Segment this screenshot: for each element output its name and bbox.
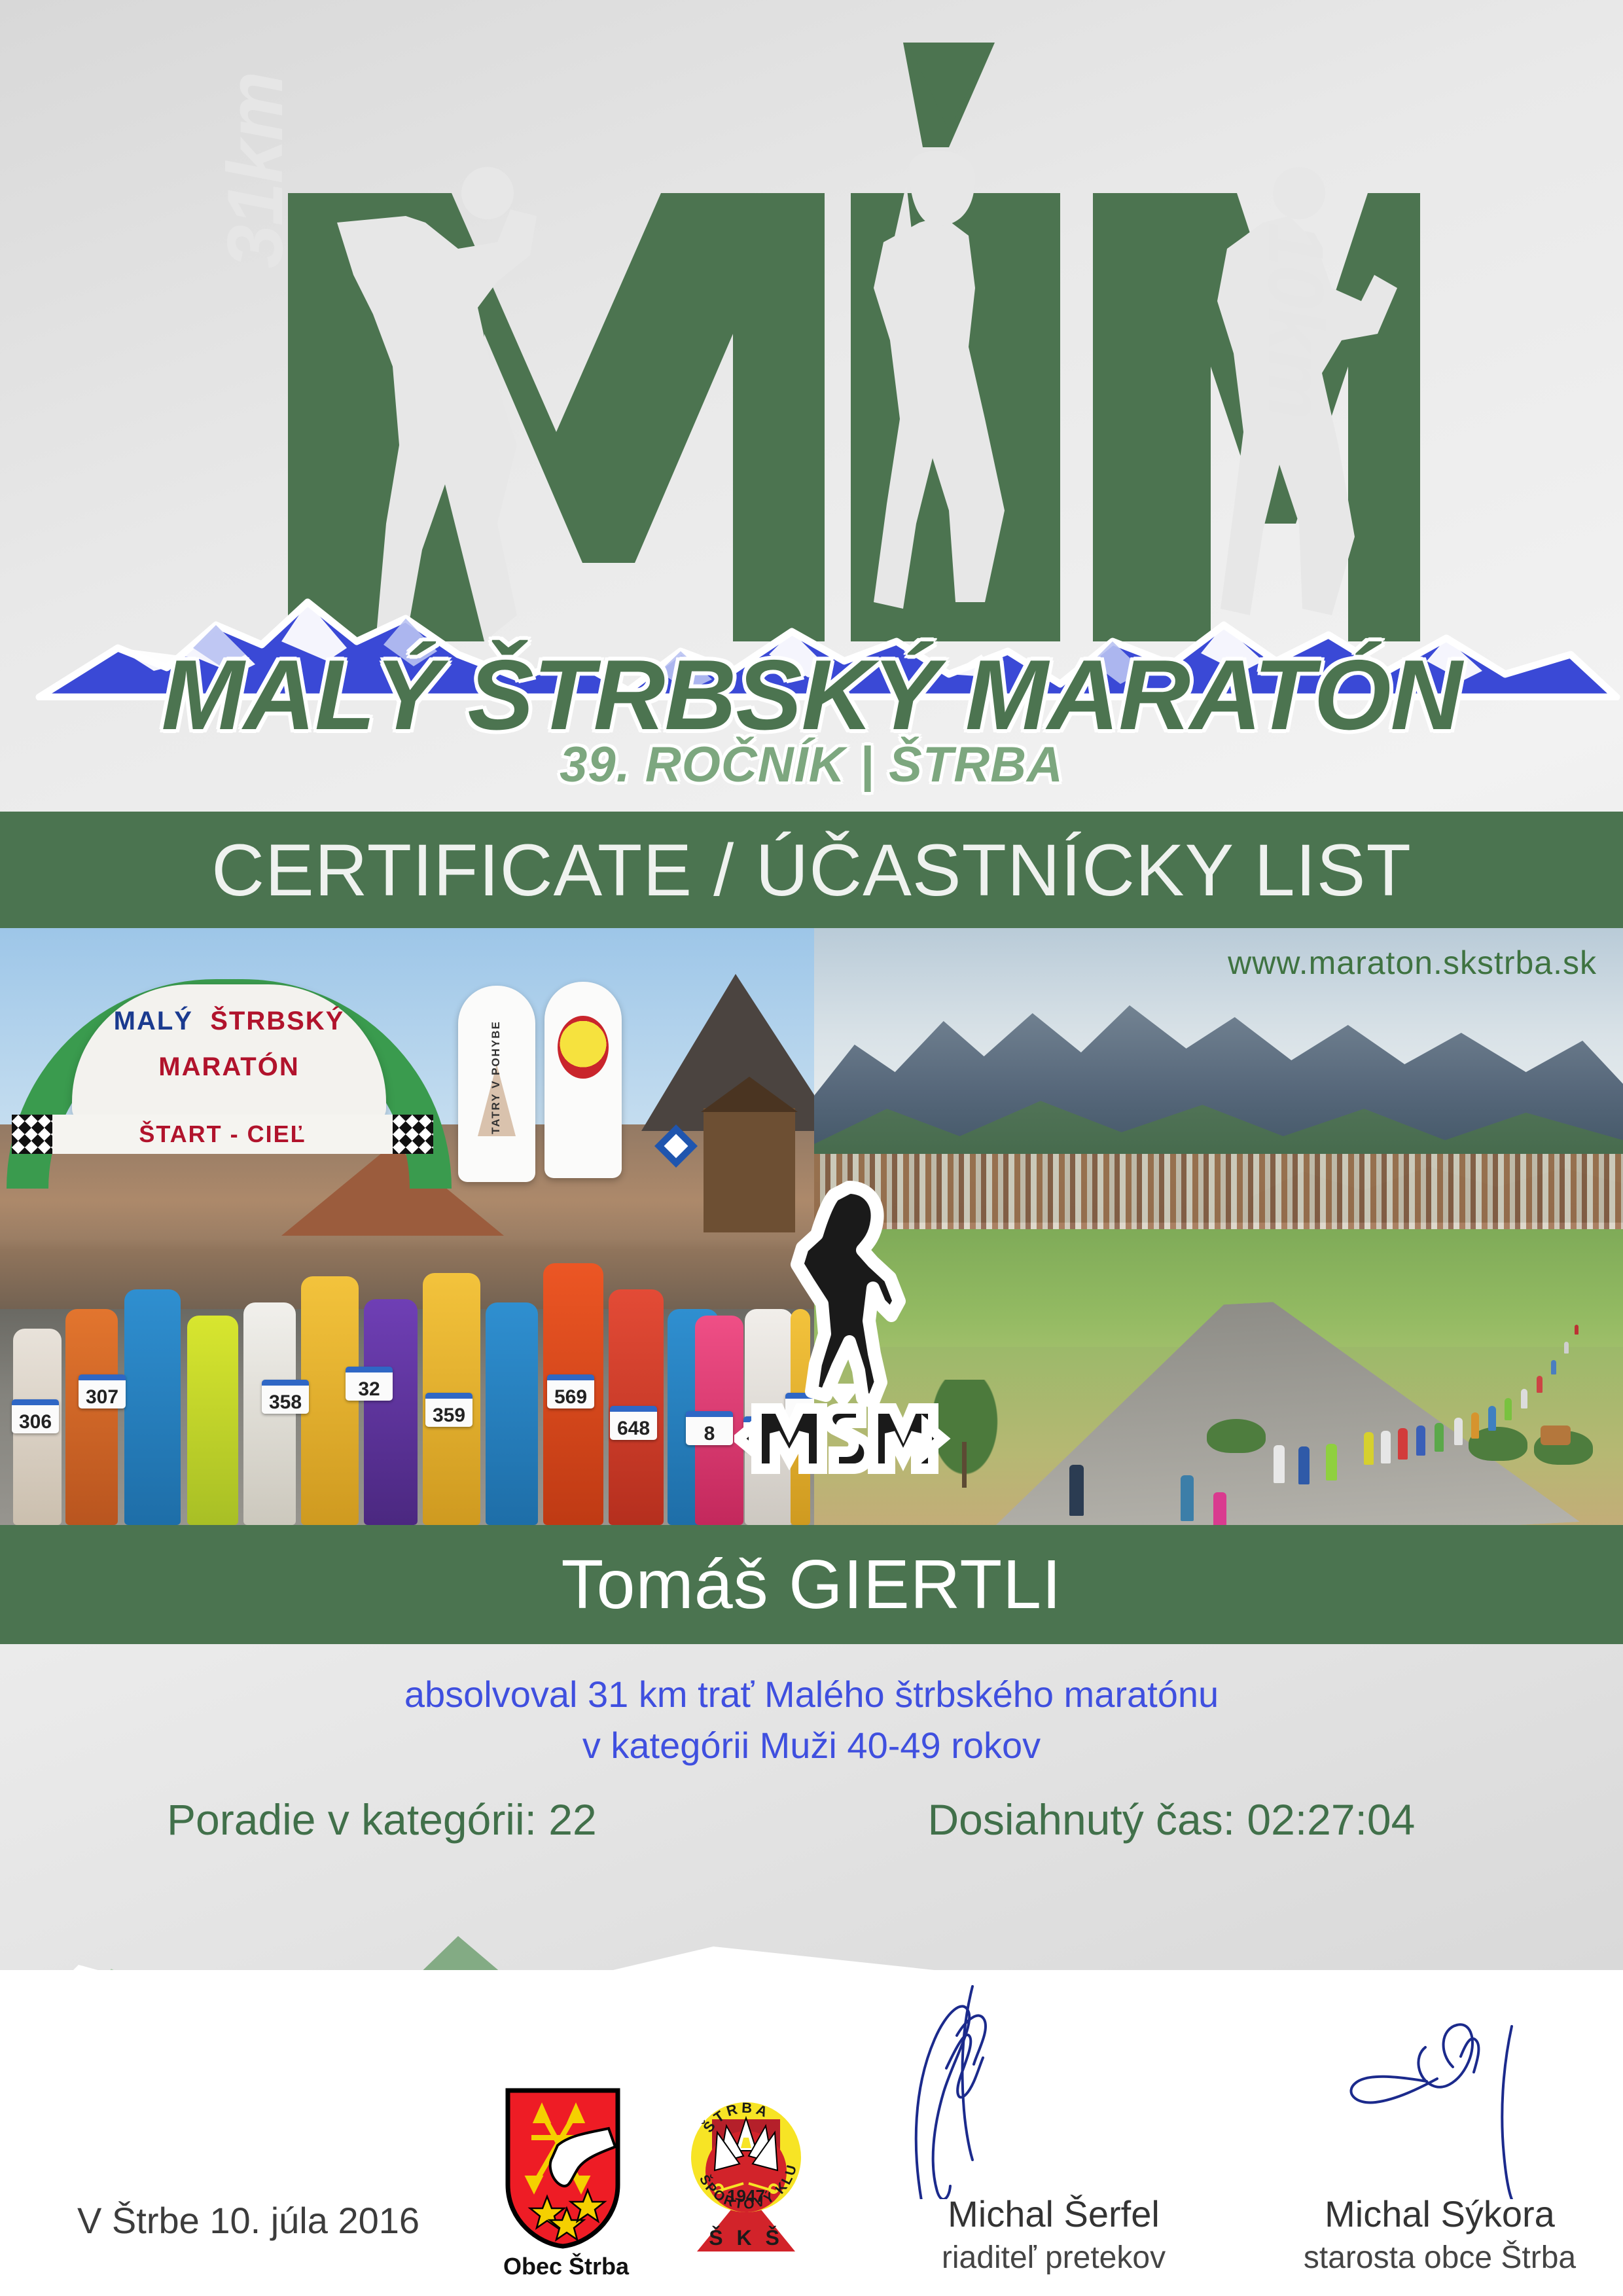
start-finish-text: ŠTART - CIEĽ [52, 1115, 393, 1154]
header-logo-section: 31km 10km MALÝ ŠTRBSKÝ MARATÓN 39. ROČNÍ… [0, 0, 1623, 812]
spectator [1069, 1465, 1084, 1516]
runner [1416, 1426, 1425, 1456]
arch-text-maraton: MARATÓN [72, 1052, 386, 1082]
signatory-name: Michal Šerfel [844, 2193, 1263, 2235]
issue-date: V Štrbe 10. júla 2016 [77, 2199, 419, 2242]
details-section: absolvoval 31 km trať Malého štrbského m… [0, 1644, 1623, 1919]
runner [1181, 1475, 1194, 1521]
sks-badge-icon [558, 1016, 609, 1079]
achievement-line-2: v kategórii Muži 40-49 rokov [0, 1720, 1623, 1771]
runner [1488, 1406, 1496, 1431]
runner [1454, 1418, 1463, 1445]
website-url: www.maraton.skstrba.sk [1228, 944, 1597, 982]
runner [1564, 1342, 1569, 1354]
recipient-name: Tomáš GIERTLI [561, 1545, 1061, 1624]
signatory-role: starosta obce Štrba [1230, 2240, 1623, 2276]
runner [1505, 1398, 1512, 1420]
runner [1381, 1431, 1391, 1463]
distance-label-31km: 31km [216, 73, 294, 268]
runner [1551, 1360, 1556, 1374]
club-abbr: Š K Š [709, 2226, 783, 2250]
certificate-title-bar: CERTIFICATE / ÚČASTNÍCKY LIST [0, 812, 1623, 928]
bush [1207, 1419, 1266, 1453]
municipality-label: Obec Štrba [484, 2253, 648, 2280]
runner [1435, 1423, 1444, 1452]
arch-text-strbsky: ŠTRBSKÝ [210, 1007, 344, 1035]
obec-strba-coat-of-arms-icon [504, 2087, 622, 2250]
runner [1398, 1428, 1408, 1460]
bib-number: 569 [547, 1374, 594, 1408]
bib-number: 8 [686, 1411, 733, 1445]
event-subtitle: 39. ROČNÍK | ŠTRBA [0, 736, 1623, 793]
cow [1541, 1426, 1571, 1445]
runner [1364, 1432, 1374, 1465]
results-row: Poradie v kategórii: 22 Dosiahnutý čas: … [0, 1795, 1623, 1844]
arch-text-line1: MALÝ ŠTRBSKÝ [72, 1007, 386, 1036]
runner [1298, 1446, 1310, 1484]
bib-number: 32 [346, 1367, 393, 1401]
start-finish-banner: ŠTART - CIEĽ [52, 1115, 393, 1154]
runner-crowd: 307 358 32 359 569 648 8 6 360 306 [0, 1158, 814, 1525]
event-title: MALÝ ŠTRBSKÝ MARATÓN [0, 638, 1623, 753]
recipient-name-band: Tomáš GIERTLI [0, 1525, 1623, 1644]
race-start-photo: MALÝ ŠTRBSKÝ MARATÓN ŠTART - CIEĽ TATRY … [0, 928, 814, 1525]
msm-logo: 31km 10km MALÝ ŠTRBSKÝ MARATÓN 39. ROČNÍ… [0, 26, 1623, 805]
runner [1274, 1445, 1285, 1483]
certificate-title-text: CERTIFICATE / ÚČASTNÍCKY LIST [211, 828, 1412, 912]
sponsor-flag-tatry: TATRY V POHYBE [458, 986, 535, 1182]
runner [1471, 1412, 1479, 1439]
runner [1537, 1376, 1543, 1393]
runner [1575, 1325, 1578, 1335]
runner [1521, 1389, 1527, 1408]
category-rank: Poradie v kategórii: 22 [0, 1795, 863, 1844]
bib-number: 358 [262, 1380, 309, 1414]
runner [1326, 1444, 1337, 1480]
signatory-role: riaditeľ pretekov [844, 2240, 1263, 2276]
certificate-page: 31km 10km MALÝ ŠTRBSKÝ MARATÓN 39. ROČNÍ… [0, 0, 1623, 2296]
distance-label-10km: 10km [1257, 223, 1335, 418]
footer-section: V Štrbe 10. júla 2016 Obec Štrba [0, 2003, 1623, 2296]
signature-mark-icon [844, 1983, 1263, 2199]
achievement-line-1: absolvoval 31 km trať Malého štrbského m… [0, 1669, 1623, 1720]
runner [1213, 1492, 1226, 1525]
flag-text: TATRY V POHYBE [490, 1012, 503, 1143]
bib-number: 306 [12, 1399, 59, 1433]
bib-number: 307 [79, 1374, 126, 1408]
signatory-name: Michal Sýkora [1230, 2193, 1623, 2235]
sks-strba-club-logo-icon: 1947 ŠTRBA ŠPORTOVÝ KLUB Š K Š [681, 2080, 811, 2258]
bib-number: 359 [425, 1393, 473, 1427]
arch-text-maly: MALÝ [114, 1007, 193, 1035]
finish-time: Dosiahnutý čas: 02:27:04 [863, 1795, 1623, 1844]
sponsor-flag-sks [544, 982, 622, 1178]
msm-stencil-badge-icon [734, 1166, 963, 1474]
msm-wordmark-icon [190, 26, 1433, 655]
bib-number: 648 [610, 1406, 657, 1440]
signature-mark-icon [1230, 1983, 1623, 2199]
